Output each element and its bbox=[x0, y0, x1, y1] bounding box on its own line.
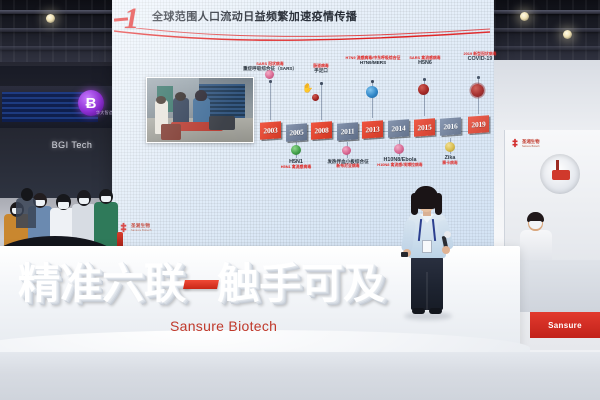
presenter bbox=[398, 186, 456, 318]
virus-icon-h5n1 bbox=[291, 145, 301, 155]
slide-sansure-logo: 圣湘生物 Sansure Biotech bbox=[118, 222, 152, 233]
timeline-year-2019: 2019 bbox=[468, 115, 489, 133]
virus-icon-ebola bbox=[394, 144, 404, 154]
virus-icon-zika bbox=[445, 142, 455, 152]
timeline-year-2013: 2013 bbox=[362, 120, 383, 138]
exhibition-scene: Ƀ 华大智造 BGI Tech 基因检测产品展示 1 全球范围人口流动日益频繁加… bbox=[0, 0, 600, 400]
booth-right-logo: 圣湘生物 Sansure Biotech bbox=[510, 138, 540, 148]
venue-floor bbox=[0, 352, 600, 400]
virus-icon-sfts bbox=[342, 146, 351, 155]
fire-extinguisher-icon bbox=[117, 232, 123, 247]
virus-icon-hfm bbox=[312, 94, 319, 101]
spotlight-icon bbox=[563, 30, 572, 39]
presentation-clicker-icon bbox=[401, 252, 408, 257]
slide-inset-photo bbox=[146, 77, 254, 143]
virus-icon-h5n6 bbox=[418, 84, 429, 95]
virus-icon-sars bbox=[265, 70, 274, 79]
spotlight-icon bbox=[520, 12, 529, 21]
booth-right-banner: Sansure bbox=[530, 312, 600, 338]
title-underline-swoosh bbox=[114, 28, 490, 46]
timeline-year-2015: 2015 bbox=[414, 118, 435, 136]
neighbouring-booth-left: Ƀ 华大智造 BGI Tech 基因检测产品展示 bbox=[0, 66, 128, 198]
timeline-year-2016: 2016 bbox=[440, 117, 461, 135]
timeline-year-2005: 2005 bbox=[286, 123, 307, 141]
timeline-label-2016: Zika 寨卡病毒 bbox=[424, 155, 476, 166]
hand-foot-mouth-icon: ✋ bbox=[302, 84, 313, 93]
slide-title: 全球范围人口流动日益频繁加速疫情传播 bbox=[152, 8, 357, 24]
timeline-year-2011: 2011 bbox=[337, 122, 358, 140]
spotlight-icon bbox=[46, 14, 55, 23]
virus-icon-h7n9 bbox=[366, 86, 378, 98]
timeline-label-2014: H10N8/Ebola H10N8 禽流感/埃博拉病毒 bbox=[370, 157, 430, 168]
slide-logo-en: Sansure Biotech bbox=[131, 229, 152, 232]
timeline-label-2005: H5N1 H5N1 禽流感病毒 bbox=[268, 159, 324, 170]
timeline-year-2008: 2008 bbox=[311, 121, 332, 139]
booth-round-display bbox=[540, 154, 580, 194]
booth-left-wordmark: BGI Tech bbox=[24, 138, 120, 152]
timeline-year-2014: 2014 bbox=[388, 119, 409, 137]
presenter-badge bbox=[422, 240, 432, 253]
stage-wordmark: Sansure Biotech bbox=[170, 318, 277, 334]
timeline-year-2003: 2003 bbox=[260, 121, 281, 139]
booth-attendant bbox=[520, 230, 552, 264]
coronavirus-icon bbox=[471, 84, 484, 97]
sansure-logo-icon bbox=[510, 138, 520, 148]
booth-left-sub-label: 华大智造 bbox=[96, 110, 113, 116]
booth-right-logo-en: Sansure Biotech bbox=[522, 145, 540, 148]
timeline-label-2015: SARS 禽流感病毒 H5N6 bbox=[396, 56, 454, 67]
presenter-hair bbox=[414, 186, 438, 209]
booth-right-logo-cn: 圣湘生物 bbox=[522, 139, 540, 145]
